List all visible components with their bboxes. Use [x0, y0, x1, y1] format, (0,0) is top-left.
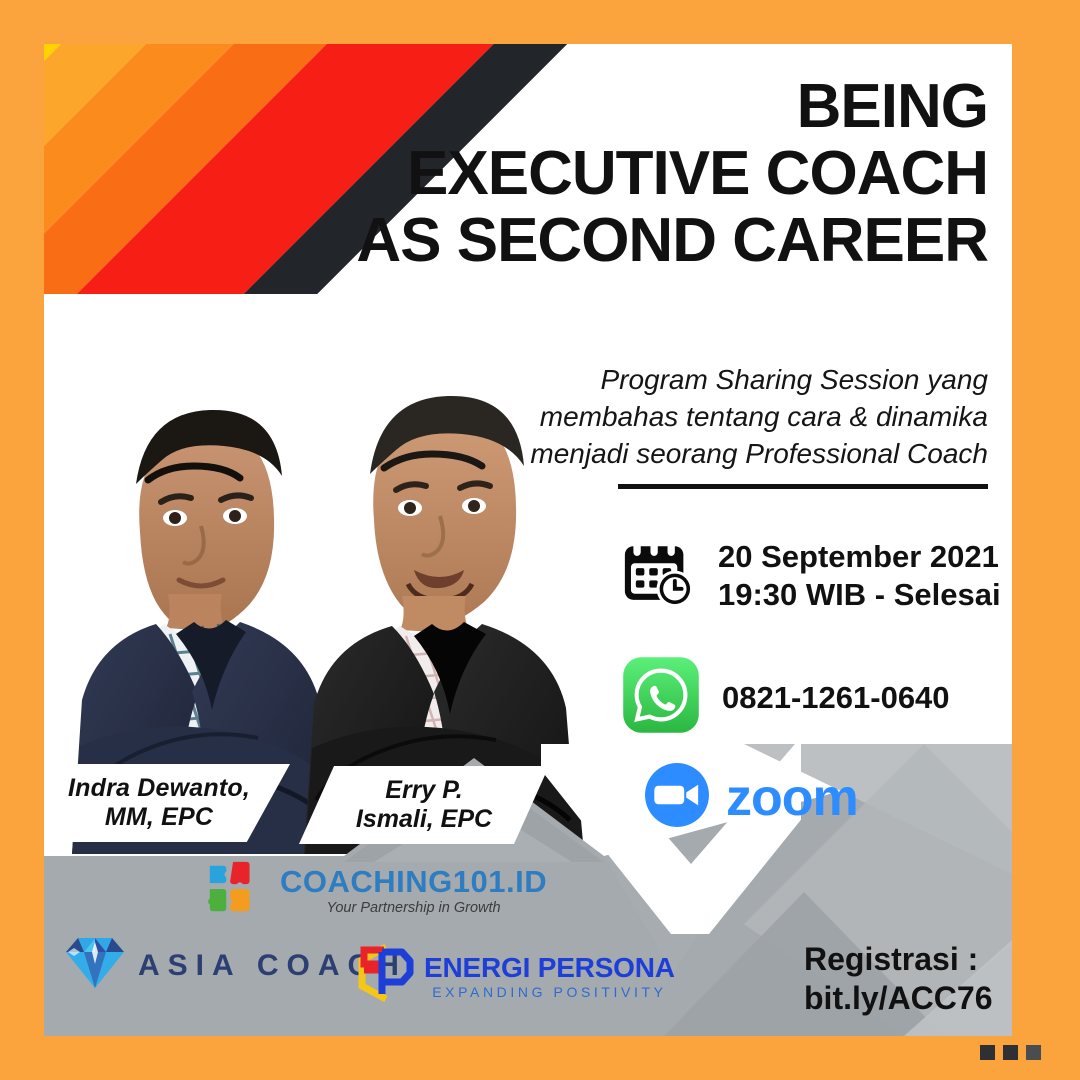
diamond-icon — [62, 934, 128, 997]
whatsapp-icon[interactable] — [622, 656, 700, 739]
poster-canvas: Indra Dewanto, MM, EPC Erry P. Ismali, E… — [44, 44, 1012, 1036]
zoom-video-camera-icon — [644, 762, 710, 833]
subtitle-description: Program Sharing Session yang membahas te… — [488, 362, 988, 473]
headline-line-1: BEING — [288, 74, 988, 141]
whatsapp-contact-row[interactable]: 0821-1261-0640 — [622, 656, 950, 739]
page-title: BEING EXECUTIVE COACH AS SECOND CAREER — [288, 74, 988, 275]
zoom-platform-row: zoom — [644, 762, 858, 833]
event-date-row: 20 September 2021 19:30 WIB - Selesai — [620, 534, 1001, 617]
coaching101-tagline: Your Partnership in Growth — [327, 900, 501, 916]
corner-dot-2 — [1003, 1045, 1018, 1060]
subtitle-divider-rule — [618, 484, 988, 489]
puzzle-pieces-icon — [204, 856, 266, 923]
coaching101-name: COACHING101.ID — [280, 864, 547, 900]
corner-dot-3 — [1026, 1045, 1041, 1060]
energi-persona-tagline: EXPANDING POSITIVITY — [432, 984, 666, 1000]
headline-line-2: EXECUTIVE COACH — [288, 141, 988, 208]
speaker-name-banner-2: Erry P. Ismali, EPC — [299, 766, 549, 844]
ep-monogram-icon — [354, 942, 418, 1009]
poster-background: Indra Dewanto, MM, EPC Erry P. Ismali, E… — [0, 0, 1080, 1080]
calendar-clock-icon — [620, 534, 698, 617]
energi-persona-name: ENERGI PERSONA — [424, 952, 675, 984]
logo-coaching101: COACHING101.ID Your Partnership in Growt… — [204, 856, 547, 923]
registration-info[interactable]: Registrasi : bit.ly/ACC76 — [804, 940, 992, 1018]
event-date-time-text: 20 September 2021 19:30 WIB - Selesai — [718, 538, 1001, 614]
corner-dots-decoration — [980, 1045, 1041, 1060]
logo-energi-persona: ENERGI PERSONA EXPANDING POSITIVITY — [354, 942, 675, 1009]
headline-line-3: AS SECOND CAREER — [288, 208, 988, 275]
zoom-wordmark: zoom — [726, 768, 858, 828]
corner-dot-1 — [980, 1045, 995, 1060]
whatsapp-number[interactable]: 0821-1261-0640 — [722, 679, 950, 717]
